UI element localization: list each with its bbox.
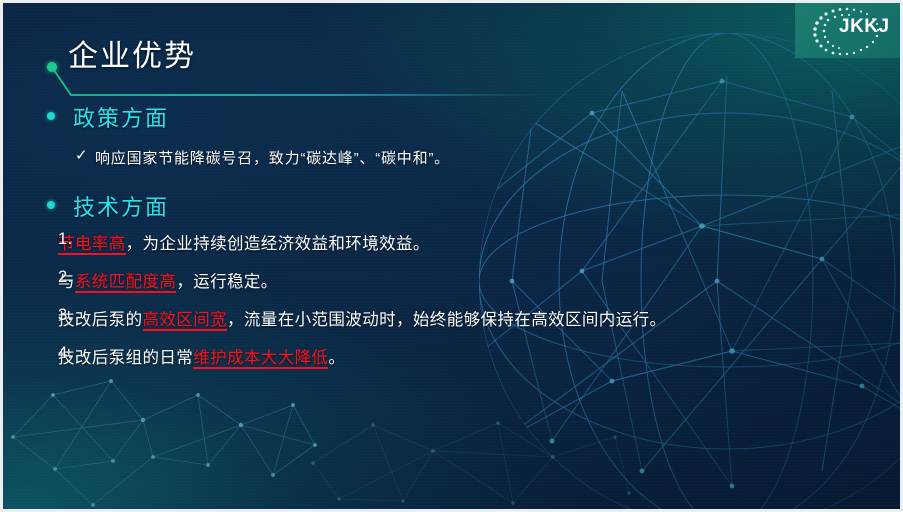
logo-wordmark: JKKJ [839,16,890,38]
section-technology: 技术方面 1.节电率高，为企业持续创造经济效益和环境效益。 2.与系统匹配度高，… [3,190,903,368]
list-item-number: 3. [58,306,73,325]
list-item-number: 2. [58,268,73,287]
section-policy-header: 政策方面 [3,101,903,133]
check-icon: ✓ [75,148,88,163]
list-item-after: ，为企业持续创造经济效益和环境效益。 [126,235,430,253]
list-item-highlight: 系统匹配度高 [75,273,176,293]
page-title: 企业优势 [68,31,196,75]
policy-check-text: 响应国家节能降碳号召，致力“碳达峰”、“碳中和”。 [95,147,450,168]
company-logo: JKKJ [795,3,900,58]
section-policy: 政策方面 ✓ 响应国家节能降碳号召，致力“碳达峰”、“碳中和”。 [3,101,903,168]
list-item: 1.节电率高，为企业持续创造经济效益和环境效益。 [3,230,903,254]
section-policy-title: 政策方面 [73,106,169,131]
title-accent-dot [47,62,57,72]
list-item-number: 1. [58,230,73,249]
slide-title-block: 企业优势 [3,31,563,91]
list-item-after: 。 [328,349,345,367]
presentation-slide: JKKJ 企业优势 政策方面 ✓ 响 [0,0,903,512]
list-item: 4.技改后泵组的日常维护成本大大降低。 [3,344,903,368]
list-item: 3.技改后泵的高效区间宽，流量在小范围波动时，始终能够保持在高效区间内运行。 [3,306,903,330]
policy-check-item: ✓ 响应国家节能降碳号召，致力“碳达峰”、“碳中和”。 [3,147,903,168]
section-technology-header: 技术方面 [3,190,903,222]
list-item-highlight: 高效区间宽 [143,311,228,331]
list-item-number: 4. [58,344,73,363]
technology-advantage-list: 1.节电率高，为企业持续创造经济效益和环境效益。 2.与系统匹配度高，运行稳定。… [3,230,903,368]
list-item-highlight: 维护成本大大降低 [193,349,328,369]
section-technology-title: 技术方面 [73,195,169,220]
bullet-dot-icon [47,201,55,209]
list-item: 2.与系统匹配度高，运行稳定。 [3,268,903,292]
list-item-after: ，运行稳定。 [176,273,277,291]
bullet-dot-icon [47,112,55,120]
list-item-after: ，流量在小范围波动时，始终能够保持在高效区间内运行。 [227,311,666,329]
list-item-before: 技改后泵组的日常 [58,349,193,367]
slide-content: 政策方面 ✓ 响应国家节能降碳号召，致力“碳达峰”、“碳中和”。 技术方面 1.… [3,101,903,382]
